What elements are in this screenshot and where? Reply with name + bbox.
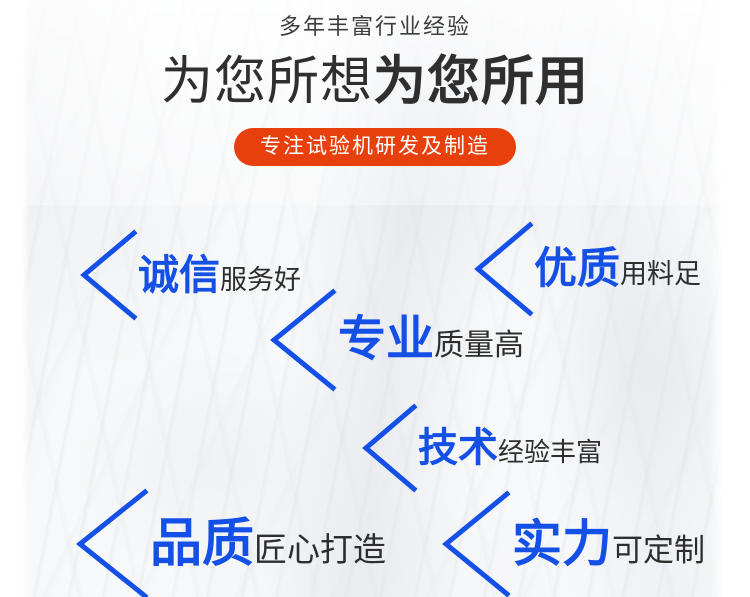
feature-sub: 用料足: [620, 261, 701, 288]
chevron-left-icon: [74, 488, 150, 597]
chevron-left-icon: [440, 490, 512, 597]
chevron-left-icon: [360, 403, 418, 493]
feature-sub: 经验丰富: [498, 439, 602, 465]
chevron-left-icon: [78, 229, 138, 321]
feature-sub: 质量高: [434, 331, 524, 361]
feature-item-zhuanye: 专业质量高: [268, 288, 524, 392]
feature-item-jishu: 技术经验丰富: [360, 403, 602, 493]
feature-label-zhuanye: 专业质量高: [338, 316, 524, 364]
feature-key: 技术: [418, 428, 498, 468]
feature-key: 实力: [512, 519, 612, 569]
feature-label-youzhi: 优质用料足: [534, 248, 701, 291]
feature-sub: 匠心打造: [254, 533, 386, 566]
feature-key: 品质: [150, 518, 254, 570]
feature-key: 优质: [534, 248, 620, 291]
status-badge: 专注试验机研发及制造: [234, 128, 516, 166]
page-title: 为您所想为您所用: [0, 55, 750, 108]
feature-item-pinzhi: 品质匠心打造: [74, 488, 386, 597]
promo-banner: 多年丰富行业经验 为您所想为您所用 专注试验机研发及制造 诚信服务好 优质用料足…: [0, 0, 750, 597]
feature-sub: 可定制: [612, 535, 705, 566]
chevron-left-icon: [268, 288, 338, 392]
headline-part-bold: 为您所用: [373, 52, 589, 111]
feature-key: 诚信: [138, 255, 220, 296]
feature-key: 专业: [338, 316, 434, 364]
banner-header: 多年丰富行业经验 为您所想为您所用 专注试验机研发及制造: [0, 0, 750, 166]
badge-container: 专注试验机研发及制造: [0, 128, 750, 166]
feature-label-pinzhi: 品质匠心打造: [150, 518, 386, 570]
feature-label-shili: 实力可定制: [512, 519, 705, 569]
feature-item-shili: 实力可定制: [440, 490, 705, 597]
headline-part-light: 为您所想: [161, 53, 373, 111]
eyebrow-text: 多年丰富行业经验: [0, 16, 750, 38]
feature-label-jishu: 技术经验丰富: [418, 428, 602, 468]
